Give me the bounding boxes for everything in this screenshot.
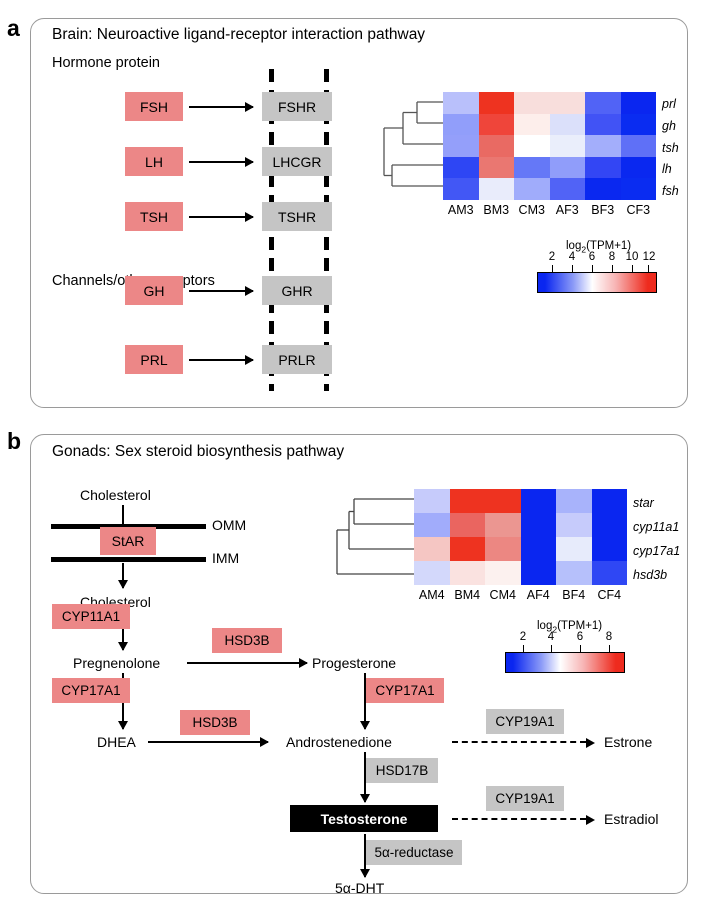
enzyme-label-hsd3b-lower: HSD3B [192,715,237,730]
heatmap-cell [514,157,550,179]
ligand-box-tsh[interactable]: TSH [125,202,183,231]
colorbar-a-tick-label: 2 [542,251,562,263]
heatmap-cell [592,561,628,585]
metabolite-androstenedione: Androstenedione [286,734,392,750]
heatmap-cell [479,157,515,179]
colorbar-a-tick [552,265,553,273]
ligand-box-prl[interactable]: PRL [125,345,183,374]
heatmap-cell [621,178,657,200]
heatmap-b-col-label: CM4 [485,588,521,602]
heatmap-a-col-label: AM3 [443,203,479,217]
heatmap-cell [450,513,486,537]
heatmap-cell [443,135,479,157]
heatmap-cell [521,489,557,513]
heatmap-b-col-label: BM4 [450,588,486,602]
enzyme-label-hsd17b: HSD17B [376,763,429,778]
panel-b-title: Gonads: Sex steroid biosynthesis pathway [52,443,344,461]
heatmap-cell [479,114,515,136]
enzyme-box-cyp17a1-right[interactable]: CYP17A1 [366,678,444,703]
metabolite-estradiol: Estradiol [604,811,658,827]
heatmap-cell [585,178,621,200]
arrow-androstenedione-to-estrone [452,741,586,743]
arrow-gh-to-ghr [189,290,253,292]
metabolite-5a-dht: 5α-DHT [335,880,384,896]
heatmap-cell [443,178,479,200]
heatmap-b-row-label: hsd3b [633,568,667,582]
heatmap-a-row-label: fsh [662,184,679,198]
enzyme-box-5a-reductase[interactable]: 5α-reductase [366,840,462,865]
enzyme-label-cyp17a1-left: CYP17A1 [61,683,120,698]
heatmap-cell [521,561,557,585]
heatmap-b-col-label: AM4 [414,588,450,602]
colorbar-a-tick [648,265,649,273]
heatmap-cell [592,537,628,561]
metabolite-box-testosterone[interactable]: Testosterone [290,805,438,832]
enzyme-label-5a-reductase: 5α-reductase [374,845,453,860]
heatmap-cell [514,135,550,157]
arrow-lh-to-lhcgr [189,161,253,163]
heatmap-cell [556,513,592,537]
heatmap-cell [514,178,550,200]
ligand-label-prl: PRL [140,352,167,368]
heatmap-cell [450,561,486,585]
receptor-label-fshr: FSHR [278,99,316,115]
colorbar-a-tick [592,265,593,273]
colorbar-a-tick [612,265,613,273]
ligand-box-fsh[interactable]: FSH [125,92,183,121]
receptor-label-prlr: PRLR [278,352,315,368]
heatmap-cell [414,489,450,513]
heatmap-cell [521,537,557,561]
receptor-box-lhcgr[interactable]: LHCGR [262,147,332,176]
arrow-fsh-to-fshr [189,106,253,108]
line-cholesterol-to-omm [122,505,124,525]
heatmap-cell [514,92,550,114]
heatmap-cell [521,513,557,537]
heatmap-cell [479,135,515,157]
receptor-label-lhcgr: LHCGR [272,154,321,170]
colorbar-b-bar [505,652,625,673]
heatmap-cell [621,92,657,114]
enzyme-box-cyp19a1-lower[interactable]: CYP19A1 [486,786,564,811]
panel-a-section-hormone-protein: Hormone protein [52,55,160,71]
heatmap-cell [556,489,592,513]
colorbar-a-tick-label: 8 [602,251,622,263]
heatmap-a-col-label: BF3 [585,203,621,217]
heatmap-cell [514,114,550,136]
arrow-dhea-to-androstenedione [148,741,268,743]
arrow-prl-to-prlr [189,359,253,361]
colorbar-a-tick-label: 12 [638,251,660,263]
receptor-box-prlr[interactable]: PRLR [262,345,332,374]
enzyme-label-hsd3b-upper: HSD3B [224,633,269,648]
heatmap-cell [485,513,521,537]
heatmap-cell [443,92,479,114]
colorbar-b-tick-label: 6 [570,631,590,643]
receptor-label-ghr: GHR [281,283,312,299]
heatmap-a-row-label: gh [662,119,676,133]
colorbar-b-tick-label: 4 [541,631,561,643]
ligand-label-lh: LH [145,154,163,170]
heatmap-cell [550,178,586,200]
heatmap-cell [479,178,515,200]
colorbar-a-tick [572,265,573,273]
metabolite-pregnenolone: Pregnenolone [73,655,160,671]
heatmap-cell [550,92,586,114]
ligand-label-tsh: TSH [140,209,168,225]
panel-a-heatmap [443,92,656,200]
colorbar-b-tick [609,645,610,653]
metabolite-estrone: Estrone [604,734,652,750]
enzyme-label-cyp19a1-upper: CYP19A1 [495,714,554,729]
ligand-box-gh[interactable]: GH [125,276,183,305]
heatmap-cell [550,135,586,157]
colorbar-a-tick-label: 4 [562,251,582,263]
colorbar-a-bar [537,272,657,293]
enzyme-box-hsd17b[interactable]: HSD17B [366,758,438,783]
enzyme-label-star: StAR [112,533,145,549]
heatmap-cell [414,537,450,561]
enzyme-box-hsd3b-upper[interactable]: HSD3B [212,628,282,653]
metabolite-label-testosterone: Testosterone [321,811,408,827]
enzyme-label-cyp11a1: CYP11A1 [62,609,120,624]
colorbar-b-tick-label: 8 [599,631,619,643]
heatmap-cell [450,489,486,513]
panel-b-letter: b [7,430,21,453]
heatmap-cell [443,157,479,179]
receptor-label-tshr: TSHR [278,209,316,225]
heatmap-cell [550,157,586,179]
heatmap-a-col-label: CF3 [621,203,657,217]
heatmap-cell [585,114,621,136]
metabolite-dhea: DHEA [97,734,136,750]
ligand-box-lh[interactable]: LH [125,147,183,176]
heatmap-b-row-label: cyp17a1 [633,544,680,558]
membrane-label-omm: OMM [212,517,246,533]
enzyme-box-star[interactable]: StAR [100,527,156,555]
heatmap-cell [450,537,486,561]
heatmap-cell [485,561,521,585]
panel-b-heatmap [414,489,627,585]
heatmap-cell [585,135,621,157]
heatmap-b-col-label: CF4 [592,588,628,602]
colorbar-b-tick [551,645,552,653]
heatmap-a-row-label: prl [662,97,676,111]
heatmap-cell [414,561,450,585]
heatmap-cell [592,489,628,513]
arrow-tsh-to-tshr [189,216,253,218]
colorbar-b-tick-label: 2 [513,631,533,643]
heatmap-a-row-label: tsh [662,141,679,155]
heatmap-cell [585,157,621,179]
heatmap-cell [485,537,521,561]
enzyme-box-cyp17a1-left[interactable]: CYP17A1 [52,678,130,703]
arrow-pregnenolone-to-progesterone [187,662,307,664]
heatmap-cell [550,114,586,136]
heatmap-cell [621,135,657,157]
panel-a-title: Brain: Neuroactive ligand-receptor inter… [52,26,425,44]
colorbar-b-tick [580,645,581,653]
enzyme-label-cyp19a1-lower: CYP19A1 [495,791,554,806]
enzyme-box-hsd3b-lower[interactable]: HSD3B [180,710,250,735]
heatmap-cell [585,92,621,114]
heatmap-cell [556,537,592,561]
ligand-label-fsh: FSH [140,99,168,115]
panel-b-dendrogram [334,489,414,585]
heatmap-cell [443,114,479,136]
panel-a-letter: a [7,17,20,40]
arrow-testosterone-to-estradiol [452,818,586,820]
membrane-label-imm: IMM [212,550,239,566]
heatmap-b-row-label: star [633,496,654,510]
heatmap-b-col-label: AF4 [521,588,557,602]
enzyme-box-cyp19a1-upper[interactable]: CYP19A1 [486,709,564,734]
heatmap-b-row-label: cyp11a1 [633,520,679,534]
heatmap-a-col-label: BM3 [479,203,515,217]
metabolite-cholesterol-top: Cholesterol [80,487,151,503]
heatmap-a-row-label: lh [662,162,672,176]
heatmap-a-col-label: AF3 [550,203,586,217]
panel-a-dendrogram [381,92,443,200]
heatmap-cell [485,489,521,513]
metabolite-progesterone: Progesterone [312,655,396,671]
heatmap-cell [592,513,628,537]
arrow-imm-to-cholesterol [122,563,124,588]
colorbar-b-tick [523,645,524,653]
receptor-box-fshr[interactable]: FSHR [262,92,332,121]
heatmap-cell [621,157,657,179]
heatmap-a-col-label: CM3 [514,203,550,217]
colorbar-a-tick [632,265,633,273]
colorbar-a-tick-label: 6 [582,251,602,263]
heatmap-cell [414,513,450,537]
enzyme-box-cyp11a1[interactable]: CYP11A1 [52,604,130,629]
receptor-box-tshr[interactable]: TSHR [262,202,332,231]
receptor-box-ghr[interactable]: GHR [262,276,332,305]
heatmap-b-col-label: BF4 [556,588,592,602]
membrane-imm [51,557,206,562]
ligand-label-gh: GH [144,283,165,299]
heatmap-cell [556,561,592,585]
heatmap-cell [479,92,515,114]
heatmap-cell [621,114,657,136]
enzyme-label-cyp17a1-right: CYP17A1 [375,683,434,698]
